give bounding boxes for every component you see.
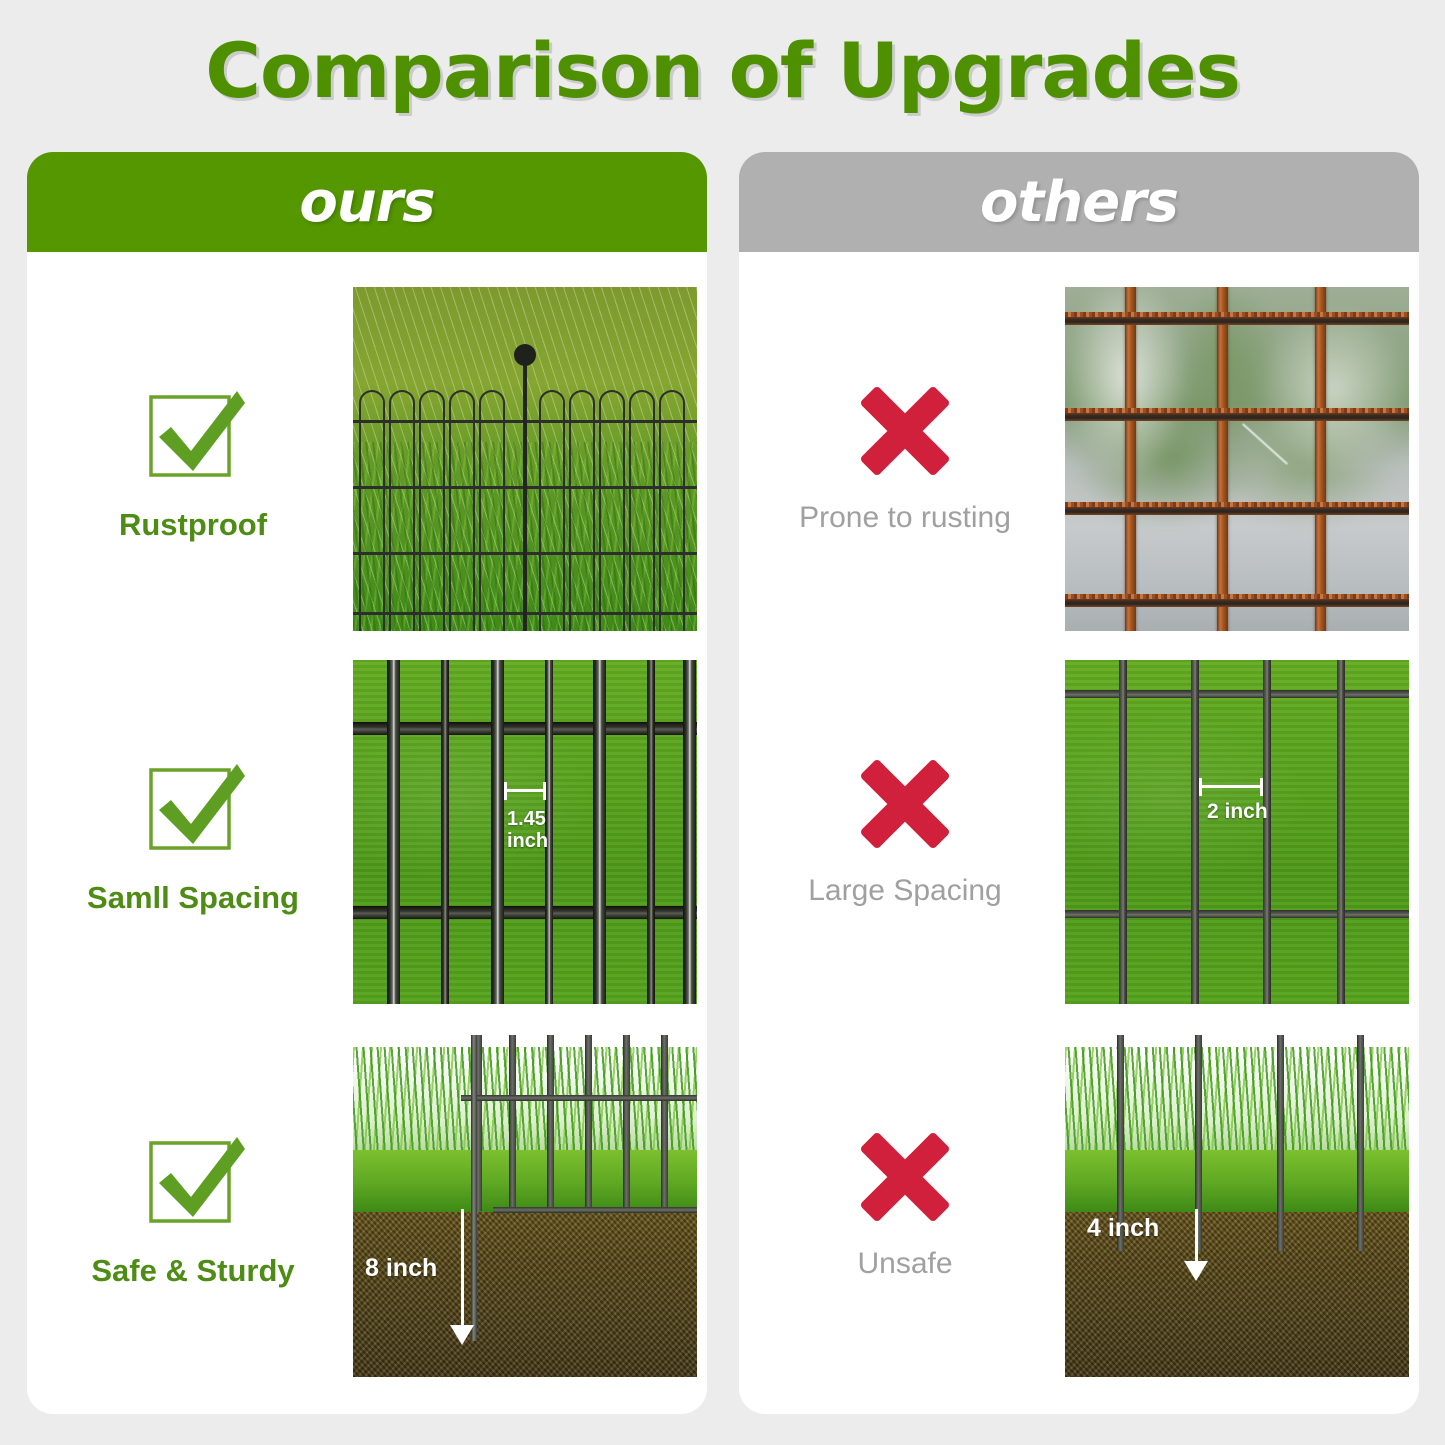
dimension-unit: inch: [507, 830, 548, 852]
feature-prone-to-rusting: Prone to rusting: [745, 383, 1065, 535]
check-square-icon: [133, 748, 253, 858]
image-wide-spaced-fence-bars: 2 inch: [1065, 660, 1409, 1004]
column-header-label-ours: ours: [299, 170, 434, 235]
feature-safe-sturdy: Safe & Sturdy: [33, 1121, 353, 1289]
column-header-ours: ours: [27, 152, 707, 252]
x-mark-icon: [857, 756, 953, 852]
check-square-icon: [133, 375, 253, 485]
feature-label-unsafe: Unsafe: [857, 1247, 952, 1281]
dimension-marker-2-inch: [1199, 778, 1263, 796]
image-fence-shallow-in-soil: 4 inch: [1065, 1033, 1409, 1377]
column-body-ours: Rustproof: [27, 252, 707, 1414]
feature-label-safe-sturdy: Safe & Sturdy: [91, 1253, 294, 1289]
depth-arrow-4-inch: [1183, 1209, 1209, 1281]
dimension-label-1-45-inch: 1.45 inch: [507, 808, 548, 852]
soil-band: [353, 1212, 697, 1377]
feature-label-small-spacing: Samll Spacing: [87, 880, 299, 916]
feature-label-rustproof: Rustproof: [119, 507, 267, 543]
feature-label-prone-to-rusting: Prone to rusting: [799, 501, 1011, 535]
feature-row-prone-to-rusting: Prone to rusting: [739, 274, 1419, 644]
column-header-others: others: [739, 152, 1419, 252]
feature-label-large-spacing: Large Spacing: [808, 874, 1001, 908]
column-body-others: Prone to rusting: [739, 252, 1419, 1414]
feature-large-spacing: Large Spacing: [745, 756, 1065, 908]
image-rusted-wire-grid-fence: [1065, 287, 1409, 631]
check-square-icon: [133, 1121, 253, 1231]
dimension-value: 1.45: [507, 808, 546, 830]
feature-row-rustproof: Rustproof: [27, 274, 707, 644]
feature-rustproof: Rustproof: [33, 375, 353, 543]
feature-row-safe-sturdy: Safe & Sturdy: [27, 1020, 707, 1390]
page-title: Comparison of Upgrades: [0, 26, 1445, 115]
blurred-background: [1065, 287, 1409, 631]
column-ours: ours Rustproof: [27, 152, 707, 1414]
feature-row-small-spacing: Samll Spacing: [27, 647, 707, 1017]
post-knob: [514, 344, 536, 366]
feature-row-unsafe: Unsafe: [739, 1020, 1419, 1390]
image-close-spaced-fence-bars: 1.45 inch: [353, 660, 697, 1004]
feature-unsafe: Unsafe: [745, 1129, 1065, 1281]
column-header-label-others: others: [980, 170, 1178, 235]
dimension-label-8-inch: 8 inch: [365, 1255, 437, 1283]
feature-small-spacing: Samll Spacing: [33, 748, 353, 916]
comparison-infographic: Comparison of Upgrades ours: [0, 0, 1445, 1445]
column-others: others Prone to rusting: [739, 152, 1419, 1414]
dimension-marker-1-45-inch: [504, 782, 546, 800]
center-post: [523, 362, 526, 631]
arched-fence-graphic: [353, 390, 697, 631]
image-rain-on-arched-wire-fence: [353, 287, 697, 631]
feature-row-large-spacing: Large Spacing 2: [739, 647, 1419, 1017]
dimension-label-4-inch: 4 inch: [1087, 1215, 1159, 1243]
x-mark-icon: [857, 383, 953, 479]
image-fence-anchored-deep-in-soil: 8 inch: [353, 1033, 697, 1377]
dimension-label-2-inch: 2 inch: [1207, 800, 1268, 823]
depth-arrow-8-inch: [449, 1209, 475, 1345]
grass-base-band: [353, 1150, 697, 1212]
x-mark-icon: [857, 1129, 953, 1225]
comparison-columns: ours Rustproof: [27, 152, 1419, 1414]
